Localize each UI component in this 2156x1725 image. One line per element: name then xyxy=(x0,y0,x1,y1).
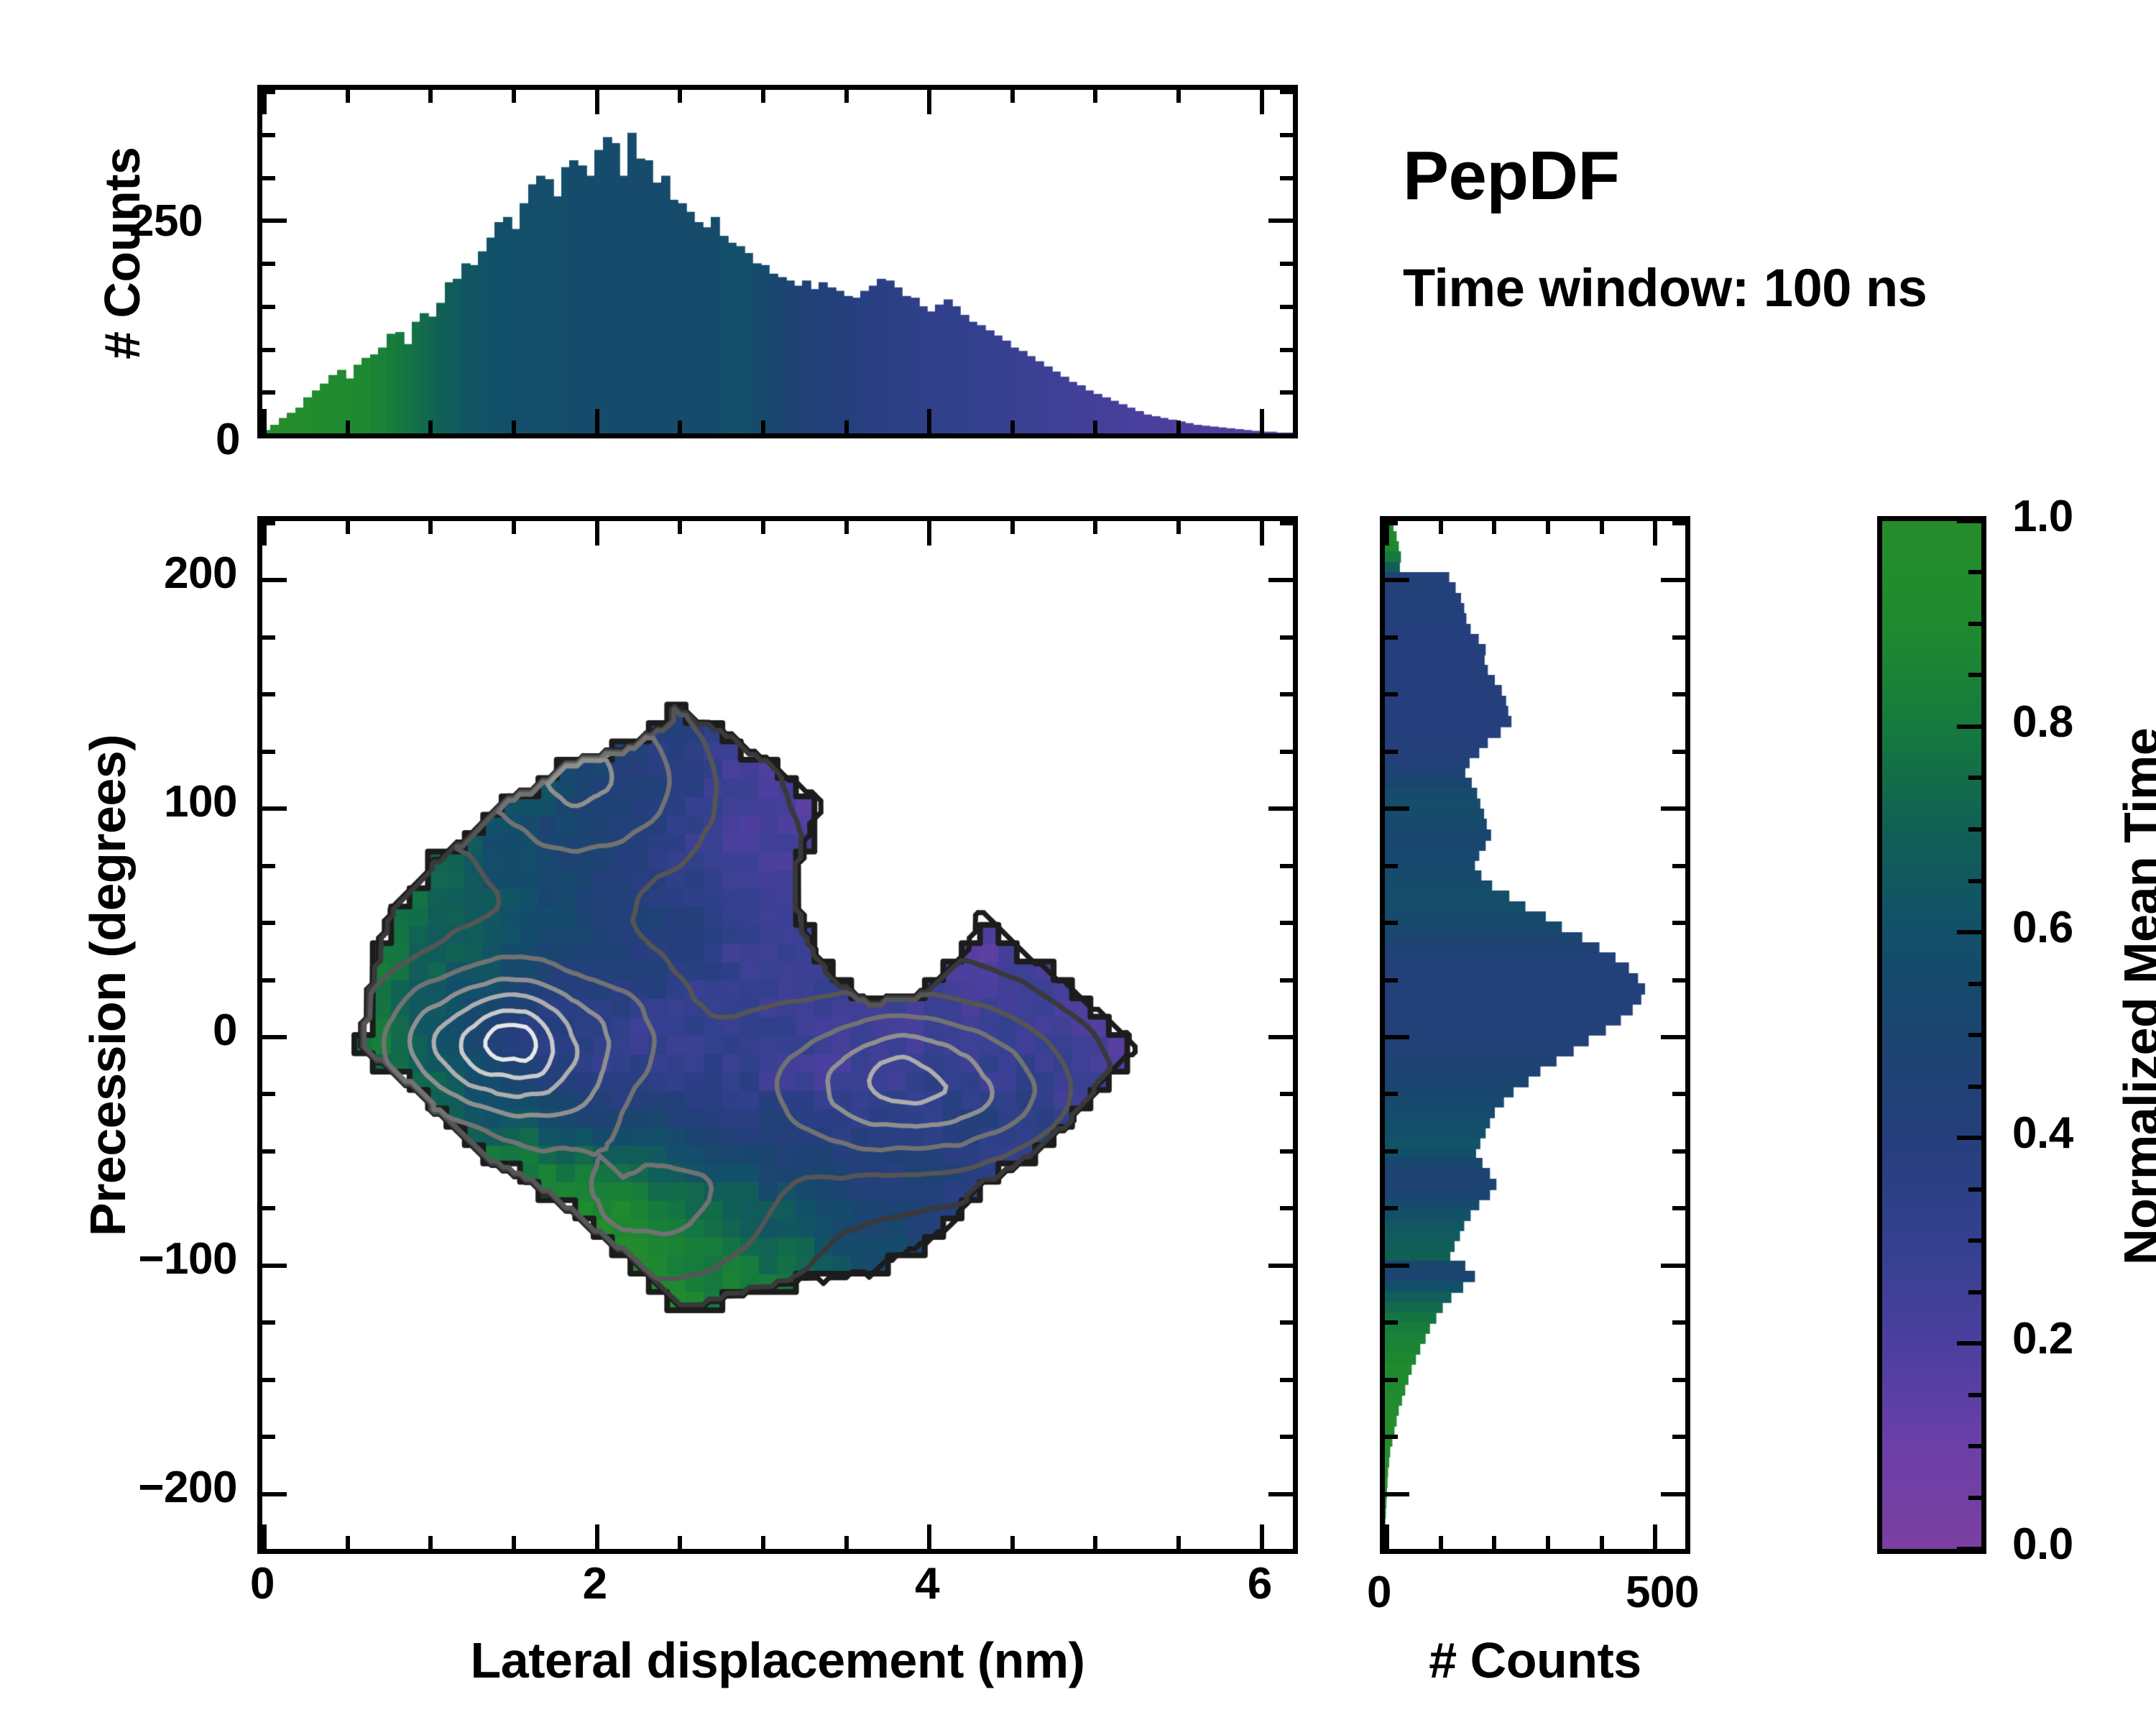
axis-tick xyxy=(1672,635,1685,640)
axis-tick xyxy=(1385,864,1398,868)
axis-tick-label: −100 xyxy=(138,1233,237,1284)
axis-tick xyxy=(1439,521,1443,534)
top-hist-ytick-0: 0 xyxy=(216,414,240,465)
axis-tick xyxy=(761,1536,765,1549)
axis-tick xyxy=(1280,1092,1293,1096)
axis-tick xyxy=(1280,1378,1293,1382)
axis-tick xyxy=(1672,1549,1685,1553)
axis-tick xyxy=(1385,1549,1398,1553)
axis-tick xyxy=(1176,521,1181,534)
axis-tick xyxy=(1968,1085,1986,1089)
axis-tick xyxy=(1968,622,1986,626)
axis-tick xyxy=(262,1264,287,1268)
main-heatmap-canvas xyxy=(262,521,1293,1549)
axis-tick xyxy=(262,90,275,94)
axis-tick xyxy=(262,864,275,868)
axis-tick xyxy=(1385,1264,1409,1268)
axis-tick xyxy=(262,1320,275,1325)
top-hist-ylabel: # Counts xyxy=(93,147,151,359)
axis-tick-label: −200 xyxy=(138,1462,237,1513)
right-histogram-canvas xyxy=(1385,521,1685,1549)
axis-tick xyxy=(262,1549,275,1553)
axis-tick xyxy=(1280,262,1293,266)
axis-tick xyxy=(1280,1435,1293,1439)
axis-tick xyxy=(1176,1536,1181,1549)
axis-tick xyxy=(1280,692,1293,696)
axis-tick xyxy=(1968,776,1986,780)
axis-tick xyxy=(1385,578,1409,582)
axis-tick xyxy=(1385,635,1398,640)
axis-tick-label: 1.0 xyxy=(2012,491,2073,542)
axis-tick xyxy=(1385,750,1398,754)
axis-tick xyxy=(1672,1435,1685,1439)
axis-tick xyxy=(761,90,765,103)
axis-tick xyxy=(844,420,849,433)
axis-tick xyxy=(678,1536,682,1549)
axis-tick xyxy=(262,635,275,640)
axis-tick xyxy=(1968,1290,1986,1294)
axis-tick xyxy=(1010,1536,1015,1549)
axis-tick xyxy=(1661,578,1685,582)
axis-tick-label: 0.0 xyxy=(2012,1519,2073,1570)
axis-tick xyxy=(1672,692,1685,696)
axis-tick xyxy=(1672,921,1685,925)
axis-tick xyxy=(678,90,682,103)
axis-tick xyxy=(262,262,275,266)
axis-tick xyxy=(1968,570,1986,574)
axis-tick xyxy=(262,692,275,696)
axis-tick xyxy=(262,1492,287,1496)
axis-tick xyxy=(262,1435,275,1439)
axis-tick xyxy=(1093,1536,1097,1549)
colorbar-label: Normalized Mean Time xyxy=(2113,728,2156,1265)
axis-tick xyxy=(1385,1524,1389,1549)
axis-tick xyxy=(428,420,433,433)
axis-tick xyxy=(346,1536,350,1549)
axis-tick xyxy=(1957,1136,1986,1140)
axis-tick xyxy=(1010,420,1015,433)
axis-tick xyxy=(1385,1206,1398,1210)
axis-tick xyxy=(844,521,849,534)
axis-tick xyxy=(1957,1547,1986,1551)
axis-tick xyxy=(1600,1536,1604,1549)
axis-tick xyxy=(1385,806,1409,811)
axis-tick xyxy=(262,806,287,811)
axis-tick xyxy=(262,1092,275,1096)
axis-tick xyxy=(262,348,275,352)
axis-tick xyxy=(927,409,931,433)
axis-tick xyxy=(1010,521,1015,534)
axis-tick-label: 4 xyxy=(915,1558,939,1609)
axis-tick xyxy=(1957,724,1986,729)
axis-tick xyxy=(1268,1492,1293,1496)
axis-tick xyxy=(1385,978,1398,983)
axis-tick xyxy=(1268,218,1293,223)
axis-tick xyxy=(512,90,516,103)
axis-tick xyxy=(1280,1149,1293,1154)
axis-tick xyxy=(1672,750,1685,754)
axis-tick xyxy=(927,90,931,114)
axis-tick xyxy=(1268,806,1293,811)
axis-tick xyxy=(1661,1264,1685,1268)
axis-tick xyxy=(1280,305,1293,309)
axis-tick xyxy=(262,978,275,983)
axis-tick xyxy=(678,420,682,433)
axis-tick xyxy=(595,409,599,433)
axis-tick xyxy=(1093,90,1097,103)
axis-tick-label: 2 xyxy=(583,1558,607,1609)
axis-tick xyxy=(1176,420,1181,433)
axis-tick xyxy=(1600,521,1604,534)
axis-tick xyxy=(1280,1206,1293,1210)
axis-tick xyxy=(428,521,433,534)
axis-tick-label: 6 xyxy=(1248,1558,1272,1609)
axis-tick xyxy=(1280,176,1293,180)
axis-tick xyxy=(346,420,350,433)
axis-tick xyxy=(1968,1444,1986,1448)
axis-tick xyxy=(1385,1378,1398,1382)
axis-tick xyxy=(927,1524,931,1549)
axis-tick xyxy=(1385,1092,1398,1096)
axis-tick xyxy=(1957,930,1986,934)
axis-tick xyxy=(1672,1320,1685,1325)
axis-tick xyxy=(1280,90,1293,94)
axis-tick xyxy=(1672,1206,1685,1210)
axis-tick xyxy=(1653,1524,1657,1549)
main-plot-xlabel: Lateral displacement (nm) xyxy=(471,1632,1085,1689)
axis-tick xyxy=(262,305,275,309)
axis-tick-label: 0 xyxy=(250,1558,275,1609)
axis-tick xyxy=(262,433,287,438)
axis-tick xyxy=(1968,982,1986,986)
axis-tick xyxy=(1968,1393,1986,1397)
axis-tick xyxy=(262,1524,267,1549)
axis-tick xyxy=(1280,348,1293,352)
axis-tick-label: 0 xyxy=(213,1005,237,1056)
right-hist-xtick-0: 0 xyxy=(1367,1567,1391,1618)
axis-tick xyxy=(262,390,275,395)
axis-tick xyxy=(1661,806,1685,811)
axis-tick-label: 100 xyxy=(164,776,237,827)
axis-tick xyxy=(1260,90,1264,114)
colorbar-gradient xyxy=(1882,521,1981,1549)
axis-tick xyxy=(1280,921,1293,925)
axis-tick xyxy=(262,218,287,223)
axis-tick xyxy=(1260,1524,1264,1549)
axis-tick xyxy=(1968,1187,1986,1192)
axis-tick xyxy=(512,1536,516,1549)
axis-tick xyxy=(1268,433,1293,438)
axis-tick-label: 0.6 xyxy=(2012,902,2073,953)
right-hist-xlabel: # Counts xyxy=(1429,1632,1641,1689)
axis-tick xyxy=(1968,879,1986,883)
page-subtitle: Time window: 100 ns xyxy=(1403,257,1927,318)
axis-tick xyxy=(1280,1549,1293,1553)
axis-tick xyxy=(1968,827,1986,832)
axis-tick xyxy=(1385,1435,1398,1439)
axis-tick xyxy=(1385,1035,1409,1039)
axis-tick xyxy=(346,521,350,534)
axis-tick xyxy=(1672,978,1685,983)
axis-tick xyxy=(1280,635,1293,640)
axis-tick xyxy=(428,90,433,103)
axis-tick xyxy=(1968,673,1986,677)
axis-tick xyxy=(262,1206,275,1210)
axis-tick xyxy=(1280,521,1293,525)
axis-tick xyxy=(1385,692,1398,696)
axis-tick xyxy=(1546,521,1550,534)
axis-tick xyxy=(1385,521,1398,525)
axis-tick xyxy=(1385,1149,1398,1154)
axis-tick xyxy=(1672,521,1685,525)
axis-tick xyxy=(761,521,765,534)
axis-tick xyxy=(595,521,599,546)
axis-tick xyxy=(1968,1033,1986,1037)
axis-tick xyxy=(262,1149,275,1154)
axis-tick xyxy=(595,90,599,114)
axis-tick xyxy=(595,1524,599,1549)
figure-root: 0 250 # Counts PepDF Time window: 100 ns… xyxy=(0,0,2156,1725)
axis-tick xyxy=(1280,978,1293,983)
axis-tick xyxy=(262,521,275,525)
axis-tick xyxy=(1653,521,1657,546)
axis-tick xyxy=(512,420,516,433)
axis-tick xyxy=(1492,521,1496,534)
axis-tick xyxy=(844,1536,849,1549)
axis-tick xyxy=(1672,1378,1685,1382)
axis-tick xyxy=(262,921,275,925)
axis-tick-label: 0.2 xyxy=(2012,1313,2073,1364)
axis-tick xyxy=(346,90,350,103)
axis-tick xyxy=(262,176,275,180)
axis-tick xyxy=(1672,864,1685,868)
axis-tick xyxy=(1260,409,1264,433)
axis-tick xyxy=(262,750,275,754)
axis-tick xyxy=(1010,90,1015,103)
axis-tick xyxy=(1280,1320,1293,1325)
axis-tick xyxy=(1439,1536,1443,1549)
axis-tick xyxy=(1268,1264,1293,1268)
top-histogram-canvas xyxy=(262,90,1293,433)
axis-tick xyxy=(761,420,765,433)
axis-tick xyxy=(1268,1035,1293,1039)
axis-tick xyxy=(1280,864,1293,868)
axis-tick xyxy=(1385,1492,1409,1496)
axis-tick xyxy=(1280,750,1293,754)
axis-tick xyxy=(1260,521,1264,546)
axis-tick xyxy=(1672,1149,1685,1154)
axis-tick xyxy=(678,521,682,534)
axis-tick xyxy=(1661,1035,1685,1039)
axis-tick xyxy=(262,1378,275,1382)
axis-tick xyxy=(1385,921,1398,925)
axis-tick xyxy=(1093,521,1097,534)
right-hist-xtick-500: 500 xyxy=(1626,1567,1699,1618)
axis-tick xyxy=(1672,1092,1685,1096)
axis-tick xyxy=(1176,90,1181,103)
axis-tick xyxy=(262,409,267,433)
main-plot-ylabel: Precession (degrees) xyxy=(79,735,137,1236)
axis-tick-label: 0.4 xyxy=(2012,1108,2073,1159)
axis-tick xyxy=(1661,1492,1685,1496)
axis-tick xyxy=(512,521,516,534)
axis-tick xyxy=(1968,1238,1986,1243)
axis-tick xyxy=(1492,1536,1496,1549)
axis-tick xyxy=(1957,1341,1986,1345)
axis-tick xyxy=(1280,390,1293,395)
axis-tick xyxy=(1093,420,1097,433)
axis-tick xyxy=(1546,1536,1550,1549)
axis-tick xyxy=(428,1536,433,1549)
axis-tick xyxy=(262,1035,287,1039)
axis-tick xyxy=(1268,578,1293,582)
axis-tick xyxy=(1280,133,1293,137)
axis-tick xyxy=(262,578,287,582)
page-title: PepDF xyxy=(1403,137,1620,216)
axis-tick-label: 200 xyxy=(164,548,237,599)
axis-tick-label: 0.8 xyxy=(2012,696,2073,747)
axis-tick xyxy=(1968,1496,1986,1500)
axis-tick xyxy=(927,521,931,546)
axis-tick xyxy=(262,133,275,137)
axis-tick xyxy=(844,90,849,103)
axis-tick xyxy=(1385,1320,1398,1325)
axis-tick xyxy=(1957,519,1986,523)
